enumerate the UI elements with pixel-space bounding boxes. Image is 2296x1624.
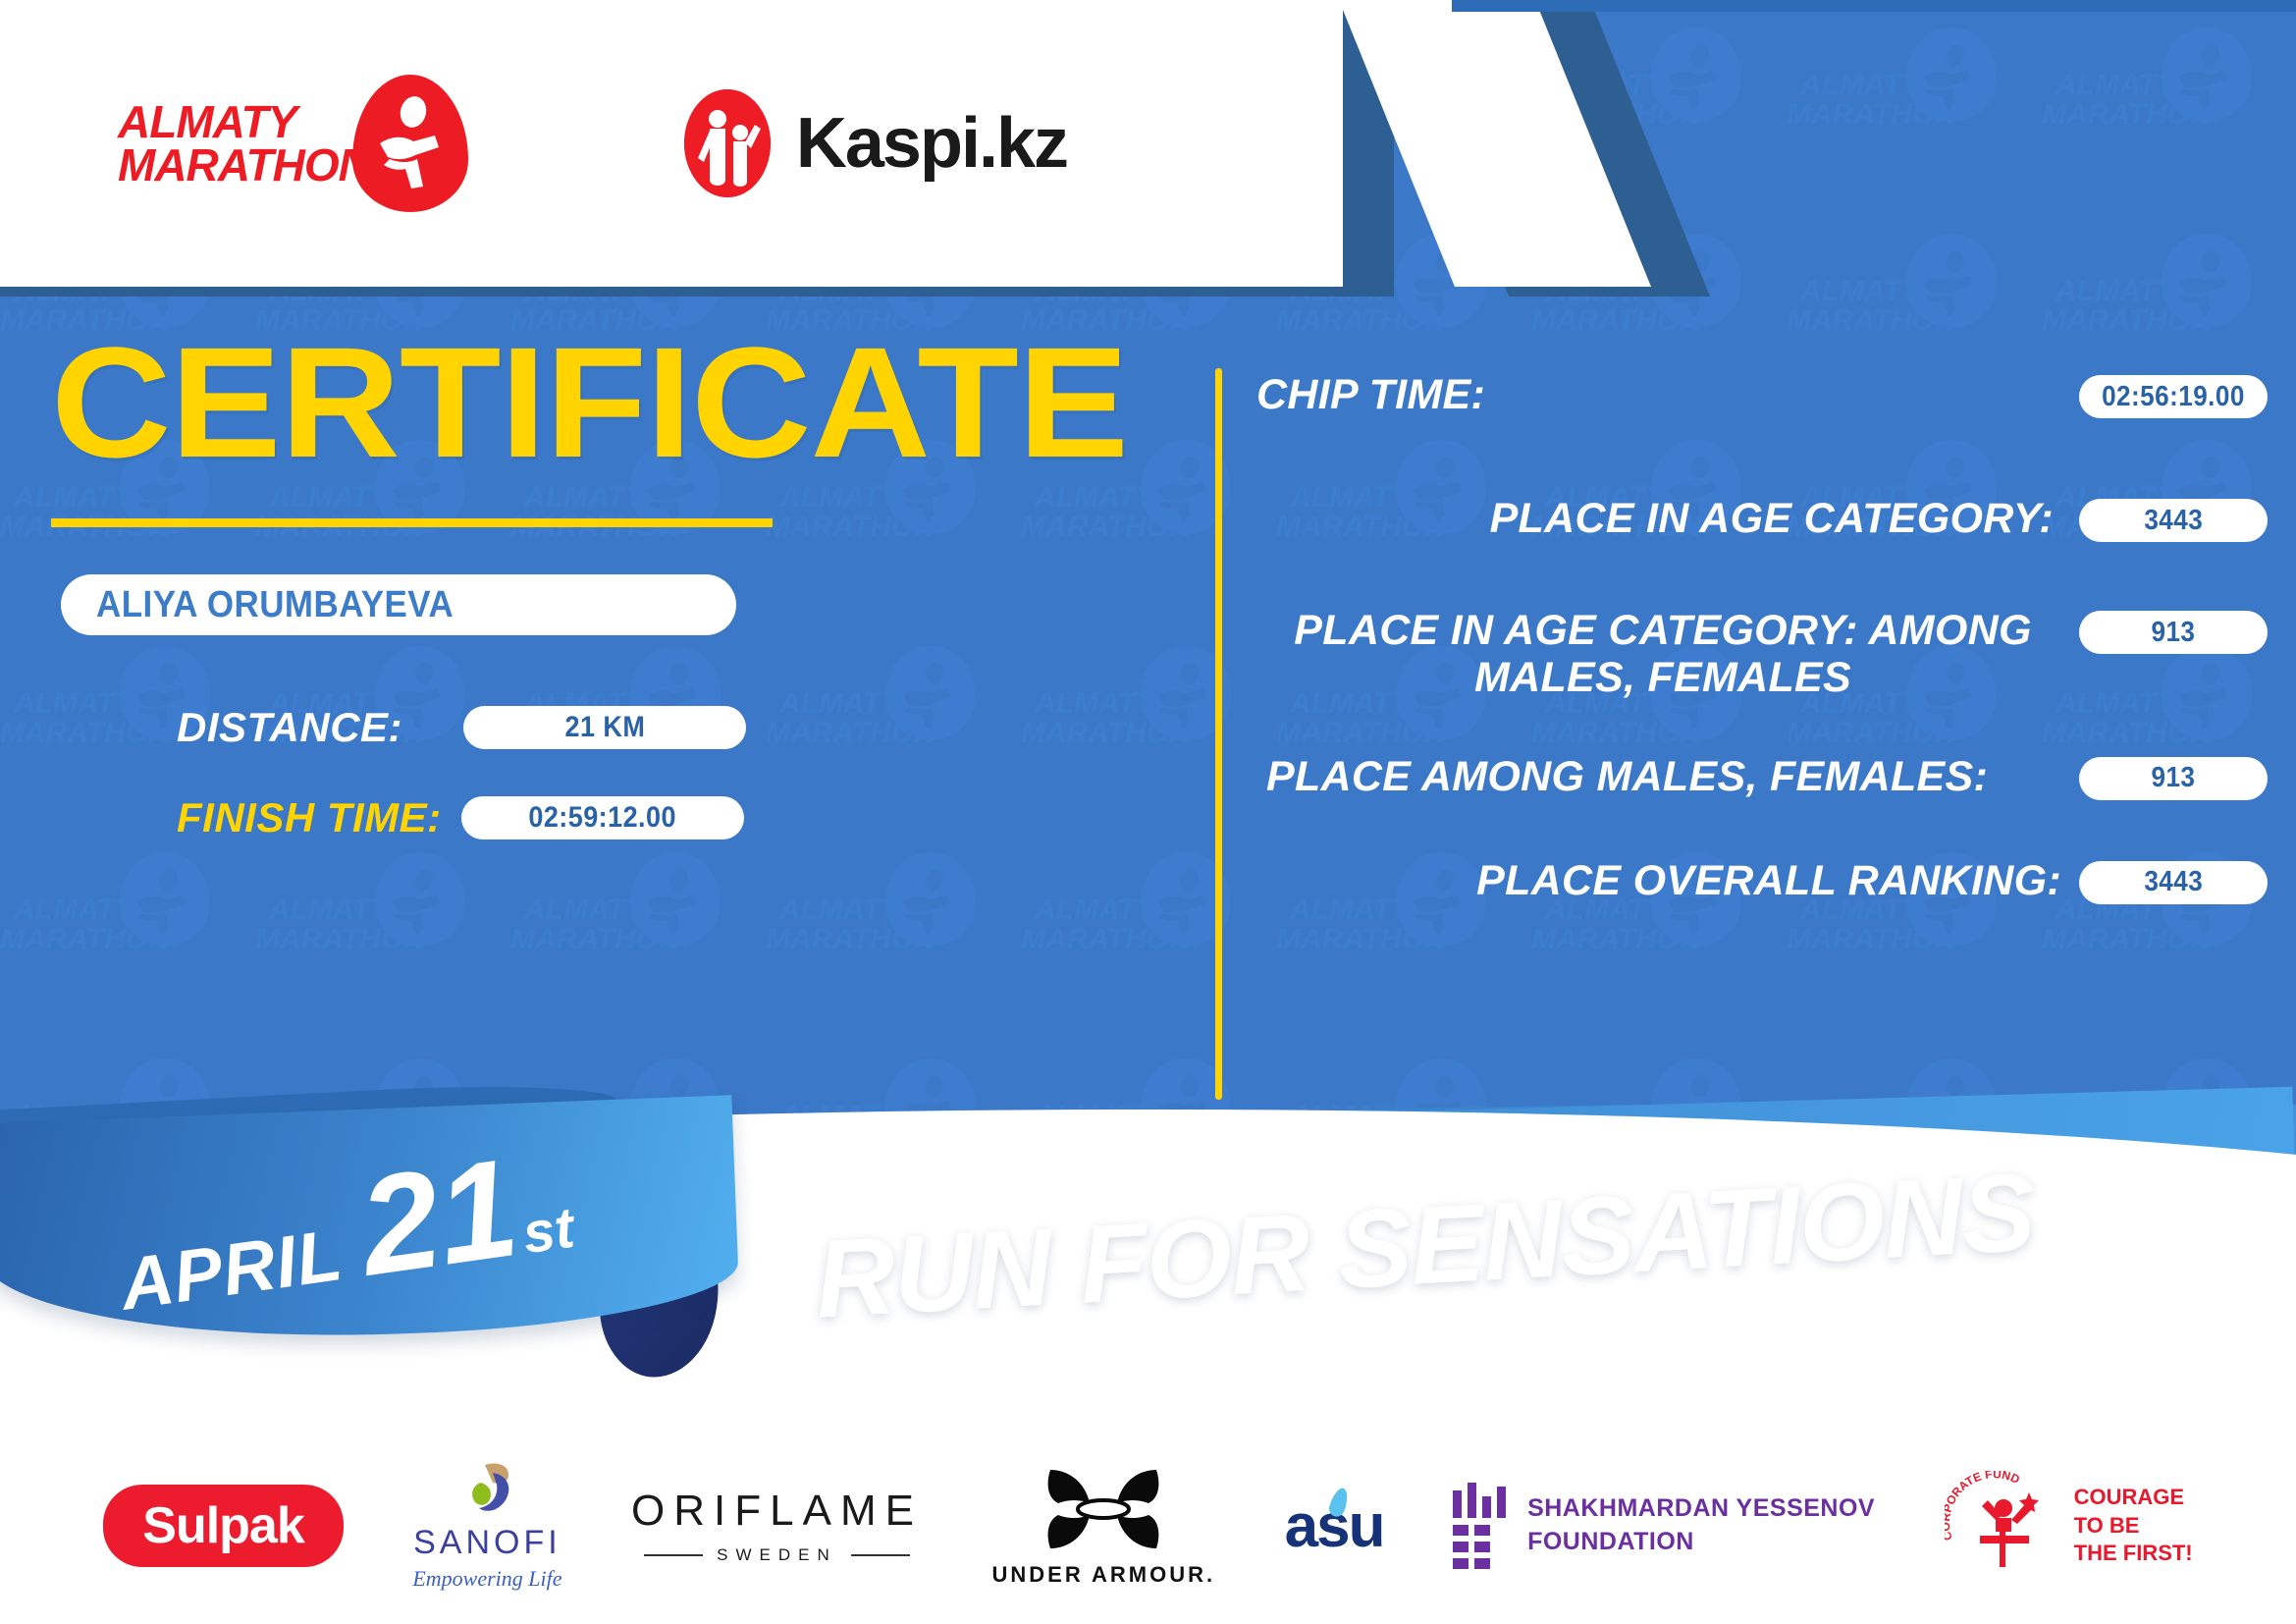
result-value: 02:56:19.00: [2102, 381, 2245, 413]
kaspi-wordmark: Kaspi.kz: [796, 103, 1067, 184]
yessenov-line1: SHAKHMARDAN YESSENOV: [1527, 1492, 1875, 1526]
result-label: PLACE OVERALL RANKING:: [1256, 857, 2079, 904]
result-row: CHIP TIME: 02:56:19.00: [1256, 371, 2268, 418]
top-blue-strip: [1452, 0, 2296, 12]
sponsor-sulpak: Sulpak: [103, 1485, 344, 1567]
result-row: PLACE IN AGE CATEGORY: 3443: [1256, 495, 2268, 542]
result-row: PLACE IN AGE CATEGORY: AMONG MALES, FEMA…: [1256, 607, 2268, 701]
finish-time-row: FINISH TIME: 02:59:12.00: [177, 794, 1158, 841]
result-value: 913: [2152, 762, 2196, 794]
header-logos: ALMATY MARATHON: [0, 0, 1343, 287]
kaspi-people-icon: [684, 89, 771, 197]
asu-wordmark: asu: [1285, 1491, 1384, 1561]
participant-name-value: ALIYA ORUMBAYEVA: [96, 584, 454, 626]
yessenov-bar: [1482, 1496, 1491, 1518]
vertical-divider: [1215, 368, 1222, 1100]
yessenov-dot: [1453, 1558, 1468, 1569]
result-label: PLACE AMONG MALES, FEMALES:: [1256, 753, 2079, 800]
almaty-marathon-line2: MARATHON: [118, 143, 370, 187]
distance-row: DISTANCE: 21 KM: [177, 704, 1158, 751]
sponsor-courage-fund: CORPORATE FUND COURAGE TO BE THE FIRST!: [1945, 1471, 2193, 1581]
courage-fund-icon: CORPORATE FUND: [1945, 1471, 2060, 1581]
oriflame-rule-left: [644, 1554, 703, 1556]
yessenov-bar: [1453, 1490, 1462, 1518]
sanofi-wordmark: SANOFI: [413, 1524, 561, 1562]
ribbon-section: APRIL 21 st RUN FOR SENSATIONS: [0, 1110, 2296, 1434]
title-underline: [51, 518, 773, 527]
result-value-pill: 3443: [2079, 861, 2268, 904]
sanofi-tagline: Empowering Life: [412, 1566, 561, 1592]
participant-name-field: ALIYA ORUMBAYEVA: [61, 574, 736, 635]
event-day-ordinal: st: [518, 1195, 577, 1268]
finish-time-value-pill: 02:59:12.00: [461, 796, 744, 839]
courage-fund-wordmark: COURAGE TO BE THE FIRST!: [2074, 1484, 2193, 1568]
yessenov-bar: [1468, 1483, 1476, 1518]
result-value: 3443: [2144, 866, 2203, 898]
sponsor-oriflame: ORIFLAME SWEDEN: [631, 1487, 923, 1565]
sponsor-yessenov-foundation: SHAKHMARDAN YESSENOV FOUNDATION: [1453, 1483, 1875, 1569]
courage-fund-line3: THE FIRST!: [2074, 1540, 2193, 1568]
result-label: CHIP TIME:: [1256, 371, 2079, 418]
finish-time-value: 02:59:12.00: [528, 801, 676, 835]
sanofi-mark-icon: [459, 1461, 514, 1518]
event-day: 21: [353, 1145, 524, 1291]
courage-fund-line2: TO BE: [2074, 1512, 2193, 1541]
result-value: 3443: [2144, 505, 2203, 537]
yessenov-line2: FOUNDATION: [1527, 1526, 1875, 1559]
yessenov-dot: [1453, 1542, 1468, 1552]
oriflame-wordmark: ORIFLAME: [631, 1487, 923, 1536]
sulpak-wordmark: Sulpak: [142, 1497, 304, 1554]
sanofi-glyph: [459, 1461, 514, 1518]
yessenov-bar: [1497, 1487, 1506, 1518]
left-column: CERTIFICATE ALIYA ORUMBAYEVA DISTANCE: 2…: [0, 324, 1158, 841]
result-value-pill: 913: [2079, 611, 2268, 654]
sponsor-under-armour: UNDER ARMOUR.: [992, 1464, 1216, 1588]
yessenov-dot: [1474, 1558, 1490, 1569]
distance-value-pill: 21 KM: [463, 706, 746, 749]
almaty-marathon-line1: ALMATY: [118, 100, 370, 143]
result-value-pill: 3443: [2079, 499, 2268, 542]
finish-time-label: FINISH TIME:: [177, 794, 442, 841]
oriflame-rule-right: [851, 1554, 910, 1556]
result-value-pill: 913: [2079, 757, 2268, 800]
result-label: PLACE IN AGE CATEGORY:: [1256, 495, 2079, 542]
oriflame-country: SWEDEN: [717, 1545, 837, 1565]
under-armour-icon: [1035, 1464, 1172, 1554]
almaty-marathon-logo: ALMATY MARATHON: [118, 75, 468, 212]
distance-value: 21 KM: [564, 711, 645, 744]
yessenov-dot: [1474, 1542, 1490, 1552]
runner-glyph: [366, 92, 456, 198]
yessenov-wordmark: SHAKHMARDAN YESSENOV FOUNDATION: [1527, 1492, 1875, 1559]
page-title: CERTIFICATE: [51, 324, 1225, 481]
sponsor-bar: Sulpak SANOFI Empowering Life ORIFLAME S…: [0, 1428, 2296, 1624]
result-value-pill: 02:56:19.00: [2079, 375, 2268, 418]
result-row: PLACE AMONG MALES, FEMALES: 913: [1256, 753, 2268, 800]
yessenov-dot: [1474, 1525, 1490, 1536]
kaspi-logo: Kaspi.kz: [684, 89, 1067, 197]
yessenov-dot: [1453, 1525, 1468, 1536]
sponsor-sanofi: SANOFI Empowering Life: [412, 1461, 561, 1592]
sulpak-logo: Sulpak: [103, 1485, 344, 1567]
result-label: PLACE IN AGE CATEGORY: AMONG MALES, FEMA…: [1256, 607, 2079, 701]
sponsor-asu: asu: [1285, 1491, 1384, 1561]
result-row: PLACE OVERALL RANKING: 3443: [1256, 857, 2268, 904]
yessenov-mark-icon: [1453, 1483, 1506, 1569]
result-value: 913: [2152, 617, 2196, 649]
results-panel: CHIP TIME: 02:56:19.00 PLACE IN AGE CATE…: [1256, 371, 2268, 946]
oriflame-sub: SWEDEN: [644, 1545, 910, 1565]
distance-label: DISTANCE:: [177, 704, 402, 751]
almaty-marathon-wordmark: ALMATY MARATHON: [118, 100, 370, 187]
kaspi-figures-glyph: [684, 89, 771, 197]
courage-fund-line1: COURAGE: [2074, 1484, 2193, 1512]
certificate-canvas: ALMATY MARATHON: [0, 0, 2296, 1624]
under-armour-wordmark: UNDER ARMOUR.: [992, 1562, 1216, 1588]
